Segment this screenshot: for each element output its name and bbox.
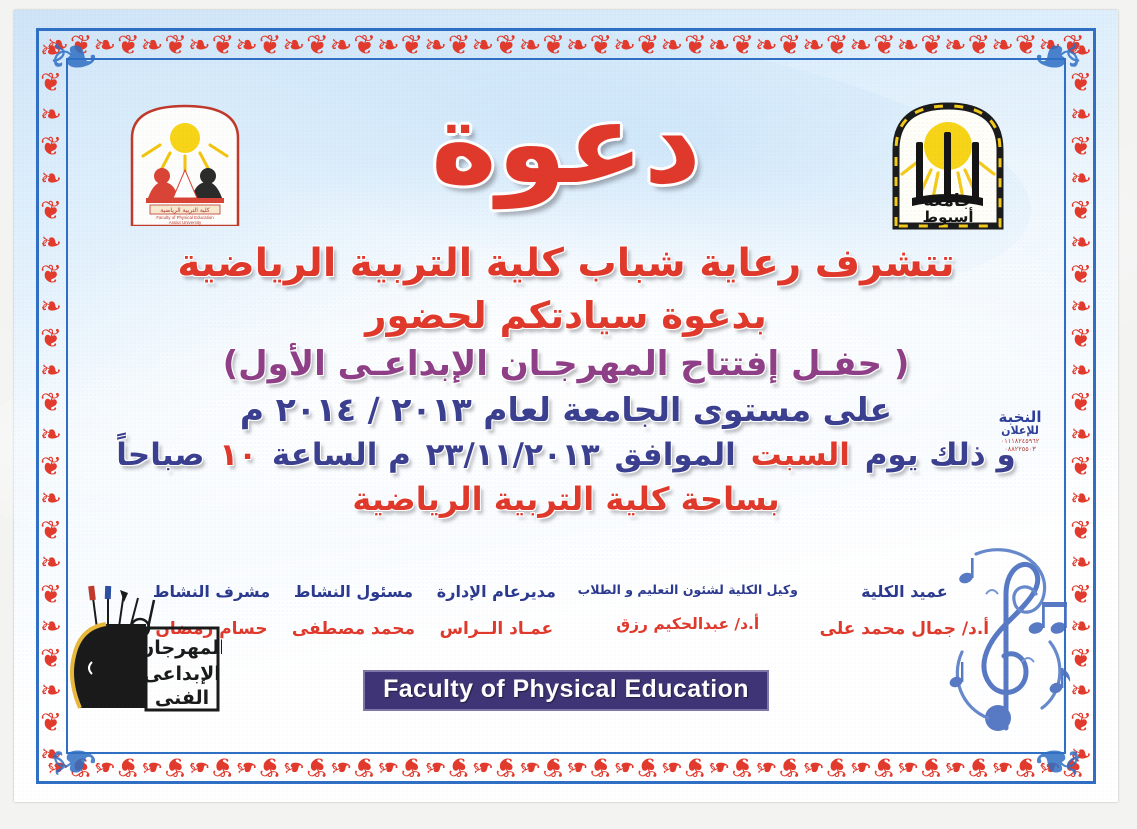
- body-line-5-datetime: و ذلك يوم السبت الموافق ٢٣/١١/٢٠١٣ م الس…: [74, 438, 1058, 473]
- page-title: دعوة: [431, 88, 701, 200]
- invitation-title-wrap: دعوة: [14, 88, 1118, 200]
- poster-card: ❦❧❦❧❦❧❦❧❦❧❦❧❦❧❦❧❦❧❦❧❦❧❦❧❦❧❦❧❦❧❦❧❦❧❦❧❦❧❦❧…: [14, 10, 1118, 802]
- time-period: صباحاً: [116, 437, 204, 473]
- signature-title: مسئول النشاط: [283, 582, 424, 602]
- corner-flourish-top-right: ❧: [1032, 26, 1084, 88]
- signature-block-vice-dean: وكيل الكلية لشئون التعليم و الطلاب أ.د/ …: [567, 582, 809, 633]
- date-day: السبت: [751, 437, 850, 473]
- date-value: ٢٣/١١/٢٠١٣: [426, 437, 600, 473]
- corner-flourish-top-left: ❧: [48, 26, 100, 88]
- signature-block-general-manager: مديرعام الإدارة عمـاد الــراس: [426, 582, 567, 639]
- time-value: ١٠: [219, 437, 257, 473]
- corner-flourish-bottom-left: ❧: [48, 730, 100, 792]
- ornament-band-top: ❦❧❦❧❦❧❦❧❦❧❦❧❦❧❦❧❦❧❦❧❦❧❦❧❦❧❦❧❦❧❦❧❦❧❦❧❦❧❦❧…: [40, 32, 1092, 62]
- signature-block-activity-officer: مسئول النشاط محمد مصطفى: [281, 582, 426, 639]
- printer-phone-2: ٠٨٨٢٢٥٥٠٣: [980, 445, 1060, 453]
- body-line-4-academic-year: على مستوى الجامعة لعام ٢٠١٣ / ٢٠١٤ م: [74, 392, 1058, 429]
- body-line-6-venue: بساحة كلية التربية الرياضية: [74, 482, 1058, 518]
- signature-row: مشرف النشاط حسام رمضان مسئول النشاط محمد…: [142, 582, 1000, 639]
- signature-name: أ.د/ عبدالحكيم رزق: [569, 615, 807, 634]
- festival-logo: المهرجان الإبداعى الفنى: [62, 584, 222, 724]
- invitation-body: تتشرف رعاية شباب كلية التربية الرياضية ب…: [74, 242, 1058, 527]
- svg-text:الإبداعى: الإبداعى: [143, 663, 220, 685]
- signature-name: عمـاد الــراس: [428, 619, 565, 639]
- signature-title: وكيل الكلية لشئون التعليم و الطلاب: [569, 582, 807, 598]
- printer-subtitle: للإعلان: [980, 425, 1060, 437]
- svg-text:أسيوط: أسيوط: [923, 207, 974, 226]
- svg-text:كلية التربية الرياضية: كلية التربية الرياضية: [160, 207, 210, 214]
- signature-title: مديرعام الإدارة: [428, 582, 565, 602]
- faculty-english-banner: Faculty of Physical Education: [363, 670, 769, 711]
- treble-clef-decoration: [932, 532, 1082, 742]
- printer-stamp: النخبة للإعلان ٠١١١٨٢٤٥٩٦٢ ٠٨٨٢٢٥٥٠٣: [980, 410, 1060, 453]
- body-line-3-event-name: ( حفـل إفتتاح المهرجـان الإبداعـى الأول): [74, 345, 1058, 383]
- printer-phone-1: ٠١١١٨٢٤٥٩٦٢: [980, 437, 1060, 445]
- date-match-word: الموافق: [614, 437, 735, 473]
- printer-name: النخبة: [980, 410, 1060, 425]
- body-line-2: بدعوة سيادتكم لحضور: [74, 295, 1058, 336]
- svg-text:الفنى: الفنى: [155, 687, 209, 709]
- time-prefix: م الساعة: [272, 437, 411, 473]
- svg-text:المهرجان: المهرجان: [138, 637, 222, 659]
- ornament-band-bottom: ❦❧❦❧❦❧❦❧❦❧❦❧❦❧❦❧❦❧❦❧❦❧❦❧❦❧❦❧❦❧❦❧❦❧❦❧❦❧❦❧…: [40, 750, 1092, 780]
- signature-name: محمد مصطفى: [283, 619, 424, 639]
- poster-page: ❦❧❦❧❦❧❦❧❦❧❦❧❦❧❦❧❦❧❦❧❦❧❦❧❦❧❦❧❦❧❦❧❦❧❦❧❦❧❦❧…: [0, 0, 1137, 829]
- svg-text:Assiut University: Assiut University: [169, 220, 202, 225]
- body-line-1: تتشرف رعاية شباب كلية التربية الرياضية: [74, 242, 1058, 286]
